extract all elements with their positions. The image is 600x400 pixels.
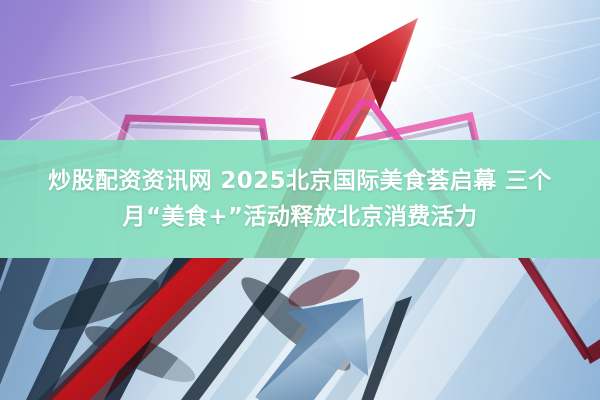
news-banner-image: 炒股配资资讯网 2025北京国际美食荟启幕 三个 月“美食+”活动释放北京消费活… xyxy=(0,0,600,400)
lower-streak-background xyxy=(0,258,600,400)
diagonal-streaks xyxy=(0,258,600,400)
headline-line-1: 炒股配资资讯网 2025北京国际美食荟启幕 三个 xyxy=(48,163,552,199)
headline-line-2: 月“美食+”活动释放北京消费活力 xyxy=(123,199,478,235)
headline-text-block: 炒股配资资讯网 2025北京国际美食荟启幕 三个 月“美食+”活动释放北京消费活… xyxy=(0,140,600,258)
